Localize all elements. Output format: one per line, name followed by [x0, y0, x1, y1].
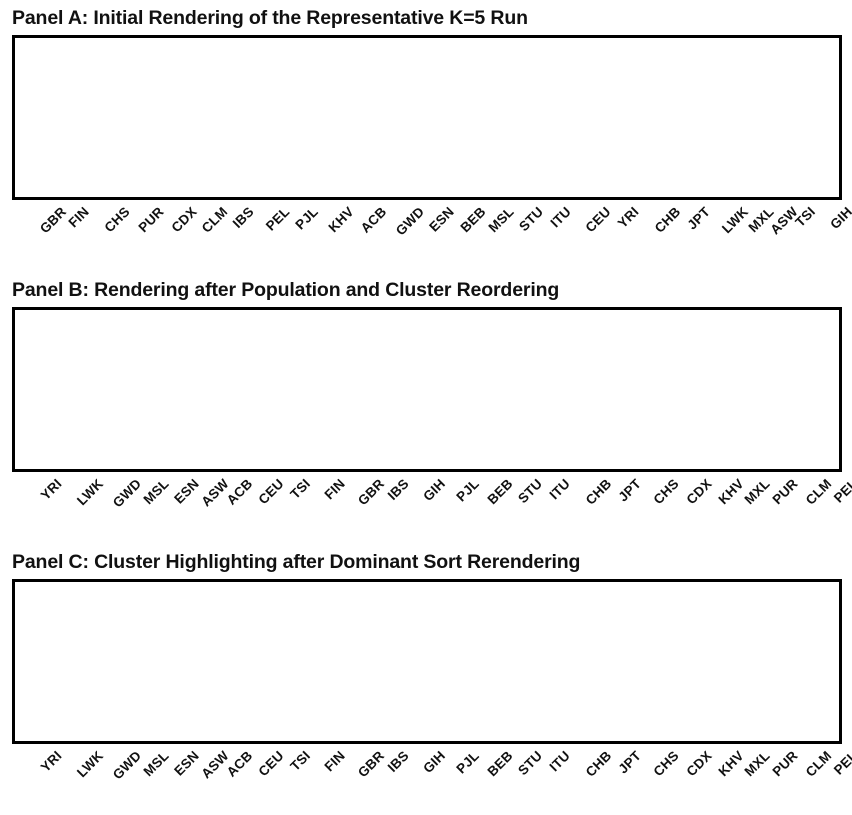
axis-tick-label-mxl: MXL: [742, 748, 773, 779]
axis-tick-label-gih: GIH: [827, 204, 852, 232]
axis-tick-label-tsi: TSI: [287, 476, 313, 502]
axis-tick-label-chb: CHB: [652, 204, 684, 236]
axis-tick-label-ibs: IBS: [385, 748, 412, 775]
panel-a-axis-labels: GBRFINCHSPURCDXCLMIBSPELPJLKHVACBGWDESNB…: [12, 200, 842, 262]
axis-tick-label-pjl: PJL: [292, 204, 321, 233]
axis-tick-label-esn: ESN: [171, 476, 202, 507]
axis-tick-label-itu: ITU: [547, 748, 573, 774]
axis-tick-label-esn: ESN: [171, 748, 202, 779]
axis-tick-label-cdx: CDX: [683, 748, 714, 779]
axis-tick-label-pel: PEL: [263, 204, 293, 234]
axis-tick-label-ibs: IBS: [385, 476, 412, 503]
axis-tick-label-pur: PUR: [769, 476, 800, 507]
axis-tick-label-msl: MSL: [141, 476, 172, 507]
axis-tick-label-gwd: GWD: [110, 748, 144, 782]
axis-tick-label-clm: CLM: [802, 748, 834, 780]
panel-b-axis-labels: YRILWKGWDMSLESNASWACBCEUTSIFINGBRIBSGIHP…: [12, 472, 842, 534]
axis-tick-label-gwd: GWD: [110, 476, 144, 510]
panel-c: Panel C: Cluster Highlighting after Domi…: [0, 544, 852, 806]
panel-b-plot-border: [12, 307, 842, 472]
axis-tick-label-khv: KHV: [325, 204, 356, 235]
axis-tick-label-yri: YRI: [615, 204, 642, 231]
axis-tick-label-gbr: GBR: [355, 476, 387, 508]
axis-tick-label-stu: STU: [515, 476, 545, 506]
axis-tick-label-fin: FIN: [66, 204, 92, 230]
axis-tick-label-cdx: CDX: [683, 476, 714, 507]
axis-tick-label-gwd: GWD: [393, 204, 427, 238]
axis-tick-label-pel: PEL: [831, 748, 852, 778]
axis-tick-label-chb: CHB: [583, 748, 615, 780]
axis-tick-label-pur: PUR: [136, 204, 167, 235]
axis-tick-label-ceu: CEU: [583, 204, 614, 235]
axis-tick-label-chs: CHS: [651, 748, 682, 779]
axis-tick-label-chb: CHB: [583, 476, 615, 508]
axis-tick-label-clm: CLM: [802, 476, 834, 508]
axis-tick-label-acb: ACB: [223, 476, 255, 508]
panel-b-plot[interactable]: [12, 307, 842, 472]
panel-a-title: Panel A: Initial Rendering of the Repres…: [0, 0, 852, 35]
axis-tick-label-yri: YRI: [38, 748, 65, 775]
axis-tick-label-acb: ACB: [358, 204, 390, 236]
axis-tick-label-msl: MSL: [141, 748, 172, 779]
axis-tick-label-clm: CLM: [199, 204, 231, 236]
panel-b-title: Panel B: Rendering after Population and …: [0, 272, 852, 307]
axis-tick-label-lwk: LWK: [74, 748, 106, 780]
axis-tick-label-tsi: TSI: [287, 748, 313, 774]
axis-tick-label-gih: GIH: [420, 476, 448, 504]
axis-tick-label-itu: ITU: [548, 204, 574, 230]
panel-c-title: Panel C: Cluster Highlighting after Domi…: [0, 544, 852, 579]
axis-tick-label-gbr: GBR: [37, 204, 69, 236]
axis-tick-label-mxl: MXL: [742, 476, 773, 507]
axis-tick-label-khv: KHV: [715, 748, 746, 779]
axis-tick-label-esn: ESN: [427, 204, 458, 235]
axis-tick-label-beb: BEB: [484, 476, 515, 507]
axis-tick-label-fin: FIN: [321, 476, 347, 502]
axis-tick-label-jpt: JPT: [684, 204, 713, 233]
axis-tick-label-itu: ITU: [547, 476, 573, 502]
axis-tick-label-pur: PUR: [769, 748, 800, 779]
axis-tick-label-chs: CHS: [651, 476, 682, 507]
axis-tick-label-ceu: CEU: [255, 476, 286, 507]
axis-tick-label-cdx: CDX: [168, 204, 199, 235]
axis-tick-label-gih: GIH: [420, 748, 448, 776]
axis-tick-label-ceu: CEU: [255, 748, 286, 779]
axis-tick-label-stu: STU: [515, 748, 545, 778]
axis-tick-label-acb: ACB: [223, 748, 255, 780]
axis-tick-label-beb: BEB: [457, 204, 488, 235]
axis-tick-label-tsi: TSI: [792, 204, 818, 230]
axis-tick-label-pjl: PJL: [453, 748, 482, 777]
panel-c-plot-border: [12, 579, 842, 744]
axis-tick-label-stu: STU: [516, 204, 546, 234]
axis-tick-label-chs: CHS: [101, 204, 132, 235]
axis-tick-label-beb: BEB: [484, 748, 515, 779]
panel-b: Panel B: Rendering after Population and …: [0, 272, 852, 534]
axis-tick-label-pel: PEL: [831, 476, 852, 506]
axis-tick-label-pjl: PJL: [453, 476, 482, 505]
axis-tick-label-yri: YRI: [38, 476, 65, 503]
axis-tick-label-jpt: JPT: [615, 476, 644, 505]
axis-tick-label-msl: MSL: [485, 204, 516, 235]
axis-tick-label-lwk: LWK: [719, 204, 751, 236]
panel-a-plot[interactable]: [12, 35, 842, 200]
axis-tick-label-lwk: LWK: [74, 476, 106, 508]
axis-tick-label-fin: FIN: [321, 748, 347, 774]
panel-c-plot[interactable]: [12, 579, 842, 744]
panel-a-plot-border: [12, 35, 842, 200]
axis-tick-label-gbr: GBR: [355, 748, 387, 780]
panel-a: Panel A: Initial Rendering of the Repres…: [0, 0, 852, 262]
axis-tick-label-khv: KHV: [715, 476, 746, 507]
panel-c-axis-labels: YRILWKGWDMSLESNASWACBCEUTSIFINGBRIBSGIHP…: [12, 744, 842, 806]
axis-tick-label-jpt: JPT: [615, 748, 644, 777]
axis-tick-label-ibs: IBS: [230, 204, 257, 231]
structure-figure: Panel A: Initial Rendering of the Repres…: [0, 0, 852, 815]
